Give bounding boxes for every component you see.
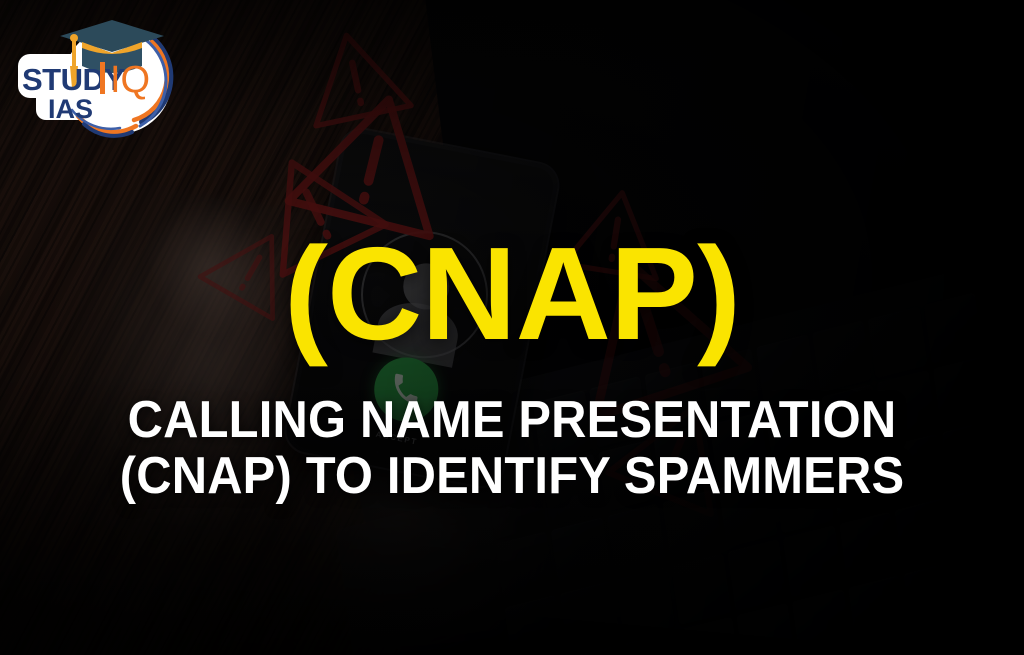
logo-divider-bar [100, 62, 105, 94]
subtitle-block: CALLING NAME PRESENTATION (CNAP) TO IDEN… [31, 392, 994, 504]
studyiq-logo-mark: STUDY IQ IAS [14, 6, 182, 140]
headline-cnap: (CNAP) [0, 228, 1024, 360]
logo-text-iq: IQ [110, 59, 150, 101]
subtitle-line-1: CALLING NAME PRESENTATION [31, 392, 994, 448]
studyiq-logo: STUDY IQ IAS [14, 6, 182, 140]
logo-text-ias: IAS [48, 94, 93, 124]
banner-canvas: ACCEPT [0, 0, 1024, 655]
subtitle-line-2: (CNAP) TO IDENTIFY SPAMMERS [31, 448, 994, 504]
